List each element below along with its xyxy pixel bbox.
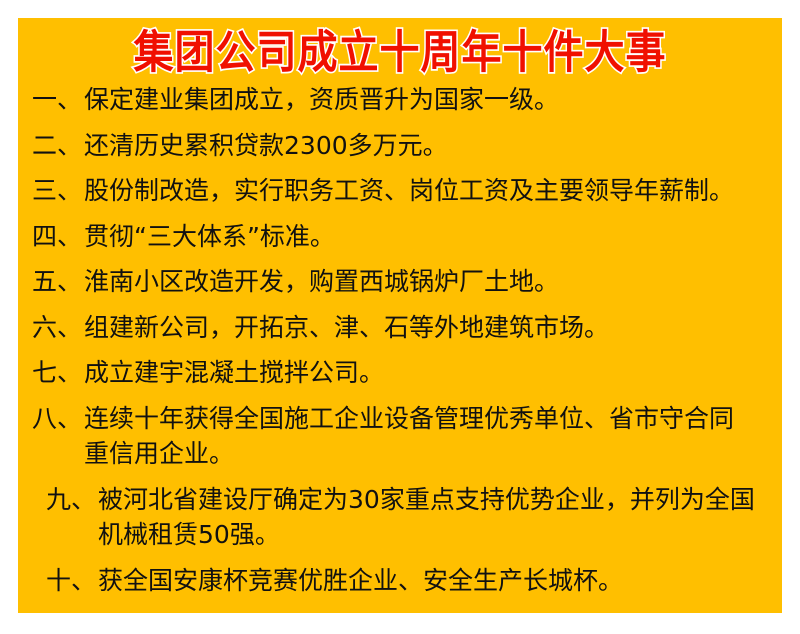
poster-panel: 集团公司成立十周年十件大事 一、保定建业集团成立，资质晋升为国家一级。二、还清历… xyxy=(18,18,782,613)
list-item-text: 贯彻“三大体系”标准。 xyxy=(84,221,768,254)
page-title: 集团公司成立十周年十件大事 xyxy=(134,28,667,77)
events-list: 一、保定建业集团成立，资质晋升为国家一级。二、还清历史累积贷款2300多万元。三… xyxy=(18,84,782,597)
list-item-text: 股份制改造，实行职务工资、岗位工资及主要领导年薪制。 xyxy=(84,175,768,208)
list-item-number: 七、 xyxy=(32,357,84,390)
list-item: 四、贯彻“三大体系”标准。 xyxy=(32,221,768,254)
list-item: 八、连续十年获得全国施工企业设备管理优秀单位、省市守合同重信用企业。 xyxy=(32,403,768,471)
title-bar: 集团公司成立十周年十件大事 xyxy=(18,22,782,84)
list-item-number: 九、 xyxy=(46,484,98,517)
list-item-line: 组建新公司，开拓京、津、石等外地建筑市场。 xyxy=(84,312,768,345)
list-item-number: 八、 xyxy=(32,403,84,436)
list-item: 六、组建新公司，开拓京、津、石等外地建筑市场。 xyxy=(32,312,768,345)
list-item-number: 三、 xyxy=(32,175,84,208)
list-item: 七、成立建宇混凝土搅拌公司。 xyxy=(32,357,768,390)
list-item: 九、被河北省建设厅确定为30家重点支持优势企业，并列为全国机械租赁50强。 xyxy=(32,484,768,552)
list-item: 三、股份制改造，实行职务工资、岗位工资及主要领导年薪制。 xyxy=(32,175,768,208)
list-item-number: 二、 xyxy=(32,130,84,163)
list-item-line: 被河北省建设厅确定为30家重点支持优势企业，并列为全国 xyxy=(98,484,768,517)
list-item-line: 重信用企业。 xyxy=(84,438,768,471)
list-item-text: 还清历史累积贷款2300多万元。 xyxy=(84,130,768,163)
list-item: 十、获全国安康杯竞赛优胜企业、安全生产长城杯。 xyxy=(32,565,768,598)
list-item-text: 保定建业集团成立，资质晋升为国家一级。 xyxy=(84,84,768,117)
list-item-number: 一、 xyxy=(32,84,84,117)
list-item: 一、保定建业集团成立，资质晋升为国家一级。 xyxy=(32,84,768,117)
list-item-text: 连续十年获得全国施工企业设备管理优秀单位、省市守合同重信用企业。 xyxy=(84,403,768,471)
list-item-line: 保定建业集团成立，资质晋升为国家一级。 xyxy=(84,84,768,117)
list-item-number: 五、 xyxy=(32,266,84,299)
list-item-number: 十、 xyxy=(46,565,98,598)
list-item-line: 贯彻“三大体系”标准。 xyxy=(84,221,768,254)
list-item-line: 淮南小区改造开发，购置西城锅炉厂土地。 xyxy=(84,266,768,299)
list-item-line: 机械租赁50强。 xyxy=(98,519,768,552)
list-item-line: 成立建宇混凝土搅拌公司。 xyxy=(84,357,768,390)
list-item-text: 被河北省建设厅确定为30家重点支持优势企业，并列为全国机械租赁50强。 xyxy=(98,484,768,552)
list-item-number: 六、 xyxy=(32,312,84,345)
list-item-line: 连续十年获得全国施工企业设备管理优秀单位、省市守合同 xyxy=(84,403,768,436)
list-item-line: 获全国安康杯竞赛优胜企业、安全生产长城杯。 xyxy=(98,565,768,598)
list-item-text: 组建新公司，开拓京、津、石等外地建筑市场。 xyxy=(84,312,768,345)
list-item-number: 四、 xyxy=(32,221,84,254)
list-item-text: 获全国安康杯竞赛优胜企业、安全生产长城杯。 xyxy=(98,565,768,598)
list-item: 二、还清历史累积贷款2300多万元。 xyxy=(32,130,768,163)
list-item-line: 还清历史累积贷款2300多万元。 xyxy=(84,130,768,163)
list-item: 五、淮南小区改造开发，购置西城锅炉厂土地。 xyxy=(32,266,768,299)
list-item-text: 淮南小区改造开发，购置西城锅炉厂土地。 xyxy=(84,266,768,299)
list-item-text: 成立建宇混凝土搅拌公司。 xyxy=(84,357,768,390)
list-item-line: 股份制改造，实行职务工资、岗位工资及主要领导年薪制。 xyxy=(84,175,768,208)
